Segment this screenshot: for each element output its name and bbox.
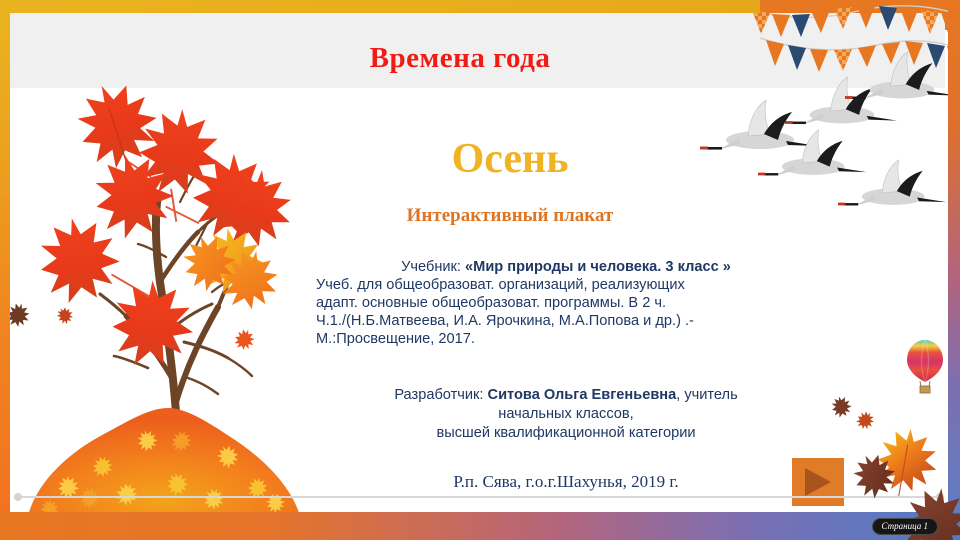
left-edge-strip (0, 12, 10, 528)
developer-line-1: Разработчик: Ситова Ольга Евгеньевна, уч… (316, 386, 816, 405)
slide-progress-handle-left[interactable] (14, 493, 22, 501)
right-edge-strip (948, 0, 960, 540)
maple-tree-icon (8, 82, 308, 412)
slide-progress-handle-right[interactable] (936, 493, 944, 501)
page-title: Времена года (0, 42, 920, 75)
developer-role-part: , учитель (676, 387, 737, 403)
developer-block: Разработчик: Ситова Ольга Евгеньевна, уч… (316, 386, 816, 443)
textbook-title-line: Учебник: «Мир природы и человека. 3 клас… (316, 258, 816, 276)
textbook-line-3: Ч.1./(Н.Б.Матвеева, И.А. Ярочкина, М.А.П… (316, 312, 816, 330)
textbook-line-4: М.:Просвещение, 2017. (316, 330, 816, 348)
developer-name: Ситова Ольга Евгеньевна (488, 387, 677, 403)
presentation-slide: Времена года Осень Интерактивный плакат … (0, 0, 960, 540)
developer-label: Разработчик: (394, 387, 483, 403)
hot-air-balloon-icon (905, 338, 945, 394)
developer-line-2: начальных классов, (316, 405, 816, 424)
textbook-line-1: Учеб. для общеобразоват. организаций, ре… (316, 276, 816, 294)
page-number-badge: Страница 1 (872, 518, 938, 535)
slide-progress-track[interactable] (14, 496, 944, 498)
textbook-label: Учебник: (401, 259, 461, 275)
developer-line-3: высшей квалификационной категории (316, 424, 816, 443)
leaf-pile-icon (18, 398, 308, 520)
textbook-block: Учебник: «Мир природы и человека. 3 клас… (316, 258, 816, 348)
top-gold-band (0, 0, 760, 13)
place-and-year: Р.п. Сява, г.о.г.Шахунья, 2019 г. (316, 472, 816, 492)
play-icon (805, 468, 831, 496)
poster-subtitle: Интерактивный плакат (300, 205, 720, 227)
play-button[interactable] (792, 458, 844, 506)
textbook-name: «Мир природы и человека. 3 класс » (465, 259, 731, 275)
footer-gradient-bar (0, 512, 960, 540)
textbook-line-2: адапт. основные общеобразоват. программы… (316, 294, 816, 312)
season-heading: Осень (300, 135, 720, 183)
